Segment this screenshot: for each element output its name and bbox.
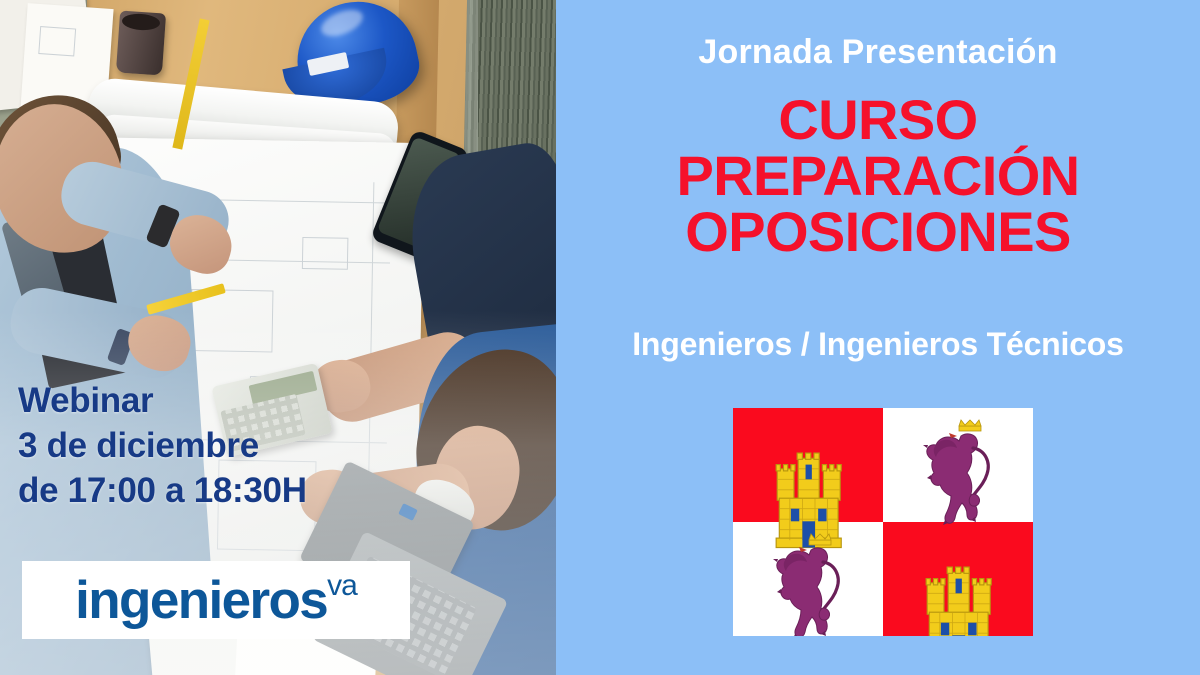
flag-lion-bottom-left	[773, 534, 838, 636]
event-time-label: de 17:00 a 18:30H	[18, 468, 307, 513]
logo-wordmark: ingenieros	[75, 574, 327, 627]
headline-line-3: OPOSICIONES	[556, 204, 1200, 260]
flag-of-castilla-y-leon-icon	[733, 408, 1033, 636]
panel-subhead: Ingenieros / Ingenieros Técnicos	[556, 325, 1200, 363]
event-format-label: Webinar	[18, 378, 307, 423]
flag-lion-top-right	[923, 420, 988, 525]
flag-castle-top-left	[776, 453, 841, 548]
headline-line-1: CURSO	[556, 92, 1200, 148]
headline-line-2: PREPARACIÓN	[556, 148, 1200, 204]
event-details-overlay: Webinar 3 de diciembre de 17:00 a 18:30H	[18, 378, 307, 513]
event-date-label: 3 de diciembre	[18, 423, 307, 468]
panel-headline: CURSO PREPARACIÓN OPOSICIONES	[556, 92, 1200, 260]
flag-castle-bottom-right	[926, 567, 991, 636]
logo-superscript: va	[327, 569, 357, 603]
panel-kicker: Jornada Presentación	[556, 32, 1200, 72]
poster-canvas: Webinar 3 de diciembre de 17:00 a 18:30H…	[0, 0, 1200, 675]
ingenierosva-logo[interactable]: ingenierosva	[22, 561, 410, 639]
right-info-panel: Jornada Presentación CURSO PREPARACIÓN O…	[556, 0, 1200, 675]
